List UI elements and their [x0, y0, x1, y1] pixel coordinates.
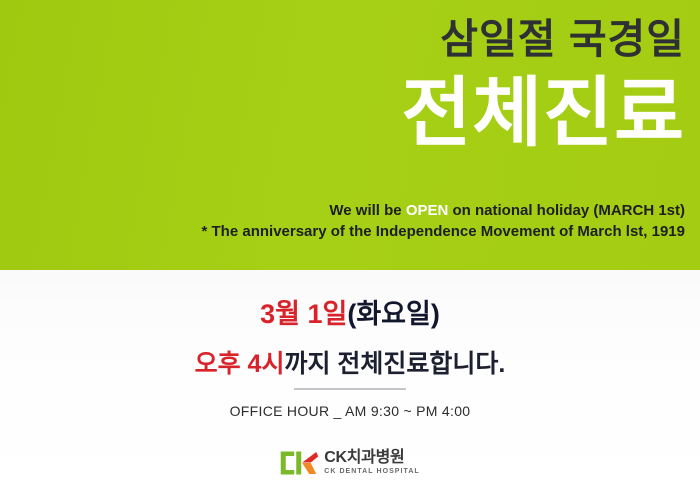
- horizontal-divider: [294, 388, 406, 390]
- logo-text-block: CK치과병원 CK DENTAL HOSPITAL: [324, 450, 420, 475]
- office-hour-text: OFFICE HOUR _ AM 9:30 ~ PM 4:00: [0, 401, 700, 421]
- open-highlight-text: OPEN: [406, 202, 449, 219]
- logo-subtitle: CK DENTAL HOSPITAL: [324, 468, 420, 475]
- date-weekday: (화요일): [347, 299, 440, 329]
- banner-headline-large: 전체진료: [0, 74, 685, 154]
- banner-subtitle-line-2: * The anniversary of the Independence Mo…: [0, 221, 685, 242]
- logo-title: CK치과병원: [324, 450, 404, 466]
- banner-content: 삼일절 국경일 전체진료 We will be OPEN on national…: [0, 0, 685, 270]
- date-line: 3월 1일(화요일): [0, 297, 700, 331]
- subtitle-prefix-text: We will be: [329, 202, 405, 219]
- closing-time-line: 오후 4시까지 전체진료합니다.: [0, 348, 700, 380]
- banner-subtitle-line-1: We will be OPEN on national holiday (MAR…: [0, 200, 685, 221]
- banner-subtitle-block: We will be OPEN on national holiday (MAR…: [0, 200, 685, 242]
- date-value: 3월 1일: [260, 299, 347, 329]
- details-panel: 3월 1일(화요일) 오후 4시까지 전체진료합니다. OFFICE HOUR …: [0, 270, 700, 485]
- subtitle-suffix-text: on national holiday (MARCH 1st): [448, 202, 685, 219]
- promotional-poster: 삼일절 국경일 전체진료 We will be OPEN on national…: [0, 0, 700, 485]
- hospital-logo: CK치과병원 CK DENTAL HOSPITAL: [280, 450, 420, 475]
- closing-time-value: 오후 4시: [195, 350, 285, 378]
- ck-logo-mark-icon: [280, 451, 318, 475]
- green-banner: 삼일절 국경일 전체진료 We will be OPEN on national…: [0, 0, 700, 270]
- closing-time-text: 까지 전체진료합니다.: [284, 350, 505, 378]
- banner-headline-small: 삼일절 국경일: [0, 18, 685, 61]
